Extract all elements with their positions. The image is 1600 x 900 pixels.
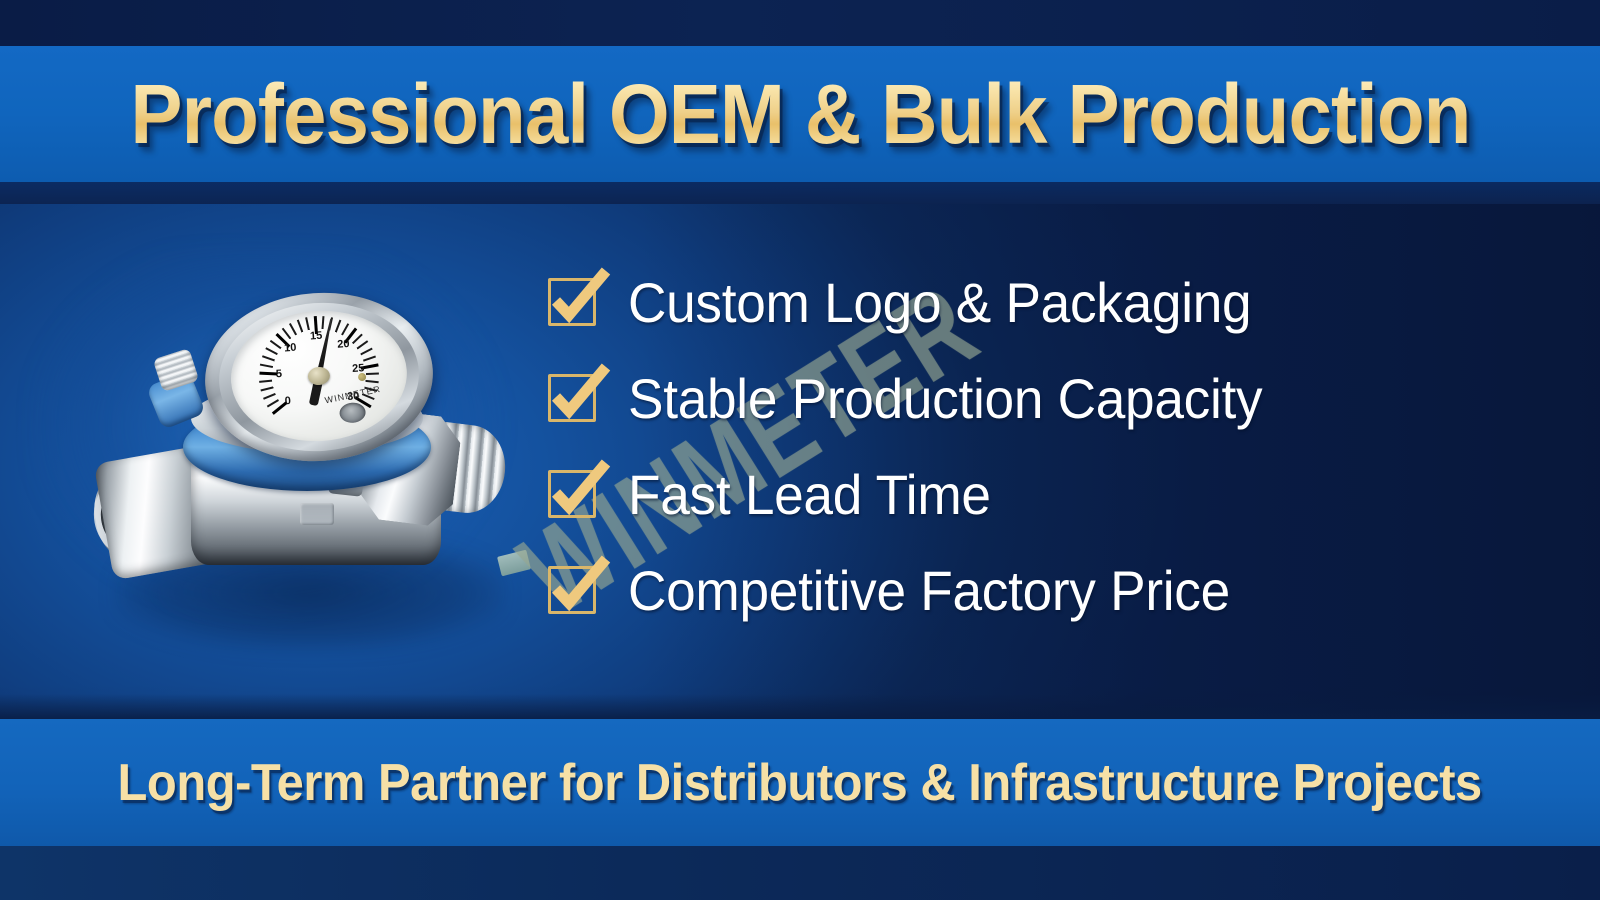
check-mark-icon xyxy=(544,551,616,623)
feature-label: Stable Production Capacity xyxy=(628,366,1262,431)
feature-item: Fast Lead Time xyxy=(548,464,1296,524)
above-bottom-shade xyxy=(0,694,1600,719)
check-mark-icon xyxy=(544,455,616,527)
checkbox-checked-icon[interactable] xyxy=(548,275,602,329)
gauge-dial-port xyxy=(338,401,365,423)
banner-canvas: 051015202530 WINMETER WINMETER Custom Lo… xyxy=(0,0,1600,900)
feature-list: Custom Logo & PackagingStable Production… xyxy=(548,272,1296,620)
feature-label: Fast Lead Time xyxy=(628,462,991,527)
checkbox-checked-icon[interactable] xyxy=(548,467,602,521)
page-subtitle: Long-Term Partner for Distributors & Inf… xyxy=(118,753,1482,813)
feature-item: Stable Production Capacity xyxy=(548,368,1296,428)
product-image-pressure-reducing-valve: 051015202530 WINMETER xyxy=(95,285,515,660)
feature-item: Custom Logo & Packaging xyxy=(548,272,1296,332)
feature-label: Custom Logo & Packaging xyxy=(628,270,1251,335)
title-band: Professional OEM & Bulk Production xyxy=(0,46,1600,182)
feature-item: Competitive Factory Price xyxy=(548,560,1296,620)
checkbox-checked-icon[interactable] xyxy=(548,371,602,425)
subtitle-band: Long-Term Partner for Distributors & Inf… xyxy=(0,719,1600,846)
top-navy-strip xyxy=(0,0,1600,46)
bottom-navy-strip xyxy=(0,846,1600,900)
gauge-dial-marker-dot xyxy=(358,373,367,382)
checkbox-checked-icon[interactable] xyxy=(548,563,602,617)
check-mark-icon xyxy=(544,359,616,431)
valve-embossed-logo xyxy=(300,503,334,525)
feature-label: Competitive Factory Price xyxy=(628,558,1230,623)
check-mark-icon xyxy=(544,263,616,335)
under-title-shade xyxy=(0,182,1600,204)
page-title: Professional OEM & Bulk Production xyxy=(130,72,1470,156)
